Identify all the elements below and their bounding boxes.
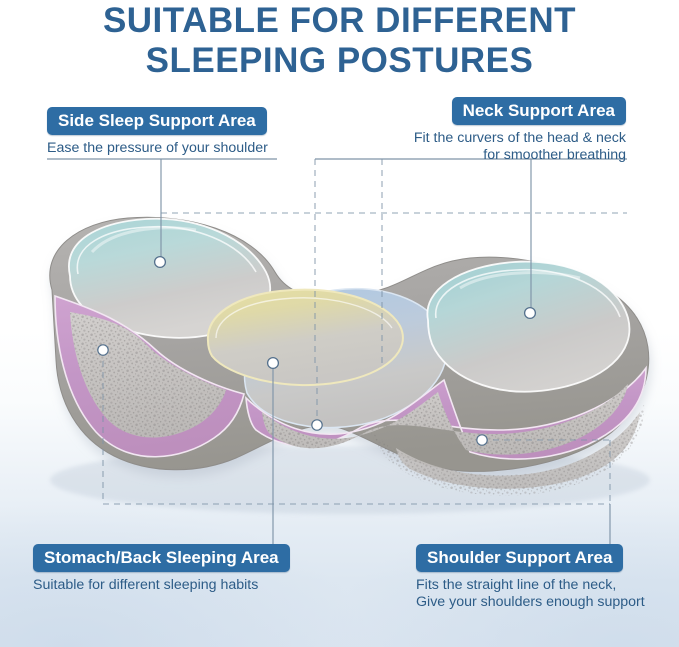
caption-stomach-back-line-1: Suitable for different sleeping habits (33, 577, 290, 594)
callout-neck-support[interactable]: Neck Support Area Fit the curvers of the… (374, 97, 626, 164)
callout-stomach-back-sleeping[interactable]: Stomach/Back Sleeping Area Suitable for … (33, 544, 290, 594)
callout-shoulder-support[interactable]: Shoulder Support Area Fits the straight … (416, 544, 645, 611)
caption-shoulder-support-line-2: Give your shoulders enough support (416, 594, 645, 611)
badge-stomach-back-sleeping-area[interactable]: Stomach/Back Sleeping Area (33, 544, 290, 572)
caption-neck-support: Fit the curvers of the head & neck for s… (374, 130, 626, 164)
caption-neck-support-line-1: Fit the curvers of the head & neck (374, 130, 626, 147)
badge-side-sleep-support-area[interactable]: Side Sleep Support Area (47, 107, 267, 135)
caption-side-sleep: Ease the pressure of your shoulder (47, 140, 268, 157)
caption-neck-support-line-2: for smoother breathing (374, 147, 626, 164)
callout-side-sleep[interactable]: Side Sleep Support Area Ease the pressur… (47, 107, 268, 157)
caption-shoulder-support-line-1: Fits the straight line of the neck, (416, 577, 645, 594)
infographic-canvas: SUITABLE FOR DIFFERENT SLEEPING POSTURES (0, 0, 679, 647)
badge-neck-support-area[interactable]: Neck Support Area (452, 97, 626, 125)
caption-stomach-back: Suitable for different sleeping habits (33, 577, 290, 594)
centre-depression-dish (208, 290, 403, 385)
right-top-lobe-surface (427, 262, 629, 392)
badge-shoulder-support-area[interactable]: Shoulder Support Area (416, 544, 623, 572)
caption-side-sleep-line-1: Ease the pressure of your shoulder (47, 140, 268, 157)
caption-shoulder-support: Fits the straight line of the neck, Give… (416, 577, 645, 611)
